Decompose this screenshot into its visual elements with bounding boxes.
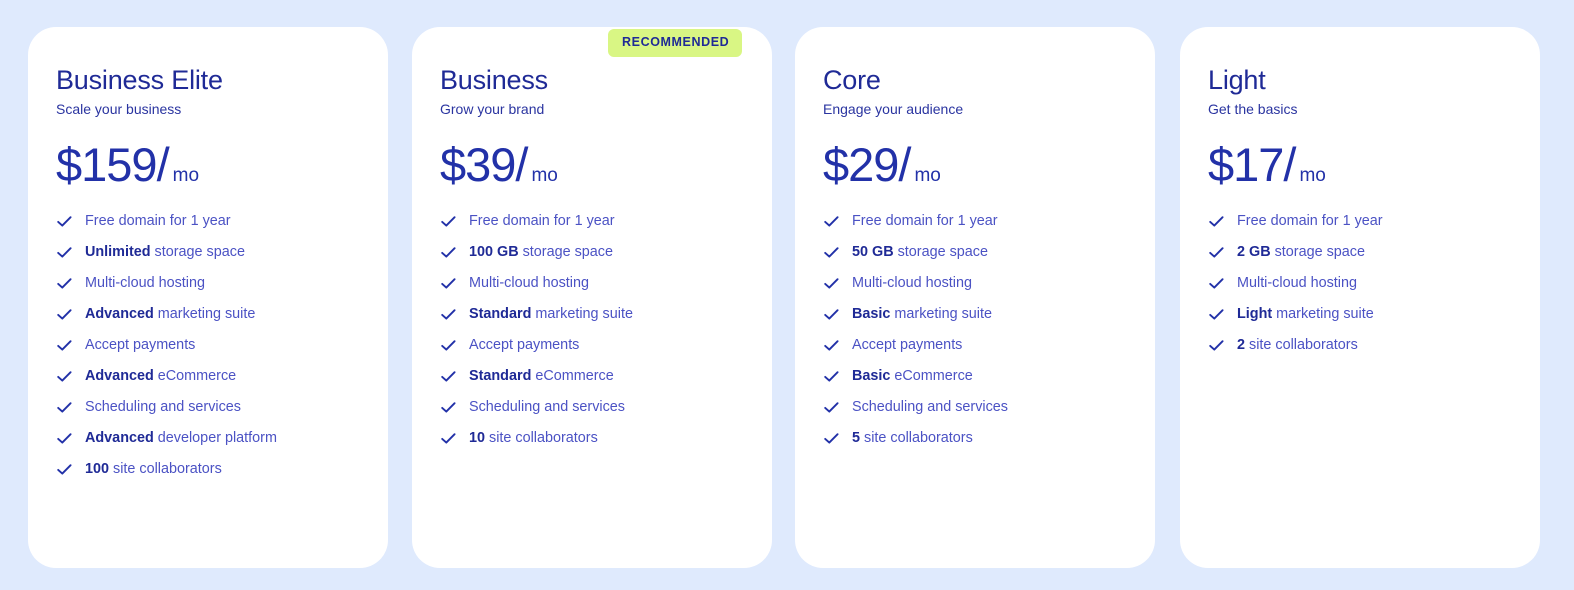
feature-item: Accept payments xyxy=(56,336,388,355)
check-icon xyxy=(56,461,73,478)
feature-item: Scheduling and services xyxy=(823,398,1155,417)
feature-list: Free domain for 1 year50 GB storage spac… xyxy=(823,212,1155,448)
plan-title: Light xyxy=(1208,65,1540,95)
feature-label: 2 site collaborators xyxy=(1237,336,1358,355)
feature-label: Advanced marketing suite xyxy=(85,305,255,324)
check-icon xyxy=(1208,306,1225,323)
feature-label: Light marketing suite xyxy=(1237,305,1374,324)
check-icon xyxy=(823,275,840,292)
feature-list: Free domain for 1 year100 GB storage spa… xyxy=(440,212,772,448)
feature-label: Basic marketing suite xyxy=(852,305,992,324)
plan-tagline: Get the basics xyxy=(1208,100,1540,118)
feature-label: Multi-cloud hosting xyxy=(85,274,205,293)
price-period: mo xyxy=(173,166,199,185)
plan-title: Core xyxy=(823,65,1155,95)
feature-item: Basic eCommerce xyxy=(823,367,1155,386)
feature-item: 100 GB storage space xyxy=(440,243,772,262)
check-icon xyxy=(823,337,840,354)
feature-label: Accept payments xyxy=(852,336,962,355)
check-icon xyxy=(823,306,840,323)
feature-list: Free domain for 1 yearUnlimited storage … xyxy=(56,212,388,479)
price-amount: $159 xyxy=(56,141,157,188)
feature-item: Scheduling and services xyxy=(56,398,388,417)
plan-card-business[interactable]: Business Grow your brand $39 / mo Free d… xyxy=(412,27,772,568)
plan-card-business-elite[interactable]: Business Elite Scale your business $159 … xyxy=(28,27,388,568)
price-period: mo xyxy=(914,166,940,185)
check-icon xyxy=(56,430,73,447)
plan-tagline: Engage your audience xyxy=(823,100,1155,118)
plan-title: Business Elite xyxy=(56,65,388,95)
price-amount: $39 xyxy=(440,141,515,188)
feature-item: Accept payments xyxy=(440,336,772,355)
feature-item: Basic marketing suite xyxy=(823,305,1155,324)
feature-label: Multi-cloud hosting xyxy=(852,274,972,293)
check-icon xyxy=(1208,337,1225,354)
recommended-badge: RECOMMENDED xyxy=(608,29,742,57)
feature-item: 2 GB storage space xyxy=(1208,243,1540,262)
check-icon xyxy=(440,244,457,261)
feature-label: 100 GB storage space xyxy=(469,243,613,262)
feature-label: Advanced developer platform xyxy=(85,429,277,448)
price-slash: / xyxy=(515,141,528,188)
check-icon xyxy=(56,368,73,385)
feature-item: Advanced eCommerce xyxy=(56,367,388,386)
feature-item: Free domain for 1 year xyxy=(1208,212,1540,231)
feature-label: Scheduling and services xyxy=(852,398,1008,417)
check-icon xyxy=(823,244,840,261)
check-icon xyxy=(56,399,73,416)
pricing-plans-grid: Business Elite Scale your business $159 … xyxy=(0,0,1574,590)
feature-item: 5 site collaborators xyxy=(823,429,1155,448)
price-slash: / xyxy=(157,141,170,188)
check-icon xyxy=(440,337,457,354)
check-icon xyxy=(440,275,457,292)
feature-label: 5 site collaborators xyxy=(852,429,973,448)
price-period: mo xyxy=(531,166,557,185)
feature-label: Free domain for 1 year xyxy=(852,212,998,231)
plan-price: $39 / mo xyxy=(440,141,772,188)
feature-item: 10 site collaborators xyxy=(440,429,772,448)
plan-title: Business xyxy=(440,65,772,95)
feature-item: Multi-cloud hosting xyxy=(56,274,388,293)
feature-label: 100 site collaborators xyxy=(85,460,222,479)
feature-list: Free domain for 1 year2 GB storage space… xyxy=(1208,212,1540,355)
plan-card-core[interactable]: Core Engage your audience $29 / mo Free … xyxy=(795,27,1155,568)
price-period: mo xyxy=(1299,166,1325,185)
check-icon xyxy=(823,368,840,385)
feature-label: Basic eCommerce xyxy=(852,367,973,386)
feature-item: Advanced developer platform xyxy=(56,429,388,448)
check-icon xyxy=(56,337,73,354)
feature-item: 50 GB storage space xyxy=(823,243,1155,262)
check-icon xyxy=(56,213,73,230)
plan-price: $159 / mo xyxy=(56,141,388,188)
feature-item: Unlimited storage space xyxy=(56,243,388,262)
price-slash: / xyxy=(1283,141,1296,188)
feature-item: Multi-cloud hosting xyxy=(440,274,772,293)
feature-item: Standard marketing suite xyxy=(440,305,772,324)
feature-label: Accept payments xyxy=(85,336,195,355)
check-icon xyxy=(56,244,73,261)
feature-label: 2 GB storage space xyxy=(1237,243,1365,262)
feature-item: Scheduling and services xyxy=(440,398,772,417)
feature-item: Free domain for 1 year xyxy=(440,212,772,231)
feature-label: Accept payments xyxy=(469,336,579,355)
feature-item: Light marketing suite xyxy=(1208,305,1540,324)
check-icon xyxy=(56,306,73,323)
feature-item: Standard eCommerce xyxy=(440,367,772,386)
feature-label: Free domain for 1 year xyxy=(85,212,231,231)
feature-label: Free domain for 1 year xyxy=(469,212,615,231)
feature-label: Advanced eCommerce xyxy=(85,367,236,386)
check-icon xyxy=(1208,244,1225,261)
feature-label: Multi-cloud hosting xyxy=(469,274,589,293)
feature-label: Multi-cloud hosting xyxy=(1237,274,1357,293)
price-slash: / xyxy=(898,141,911,188)
check-icon xyxy=(1208,275,1225,292)
price-amount: $17 xyxy=(1208,141,1283,188)
price-amount: $29 xyxy=(823,141,898,188)
feature-item: Multi-cloud hosting xyxy=(1208,274,1540,293)
feature-label: Free domain for 1 year xyxy=(1237,212,1383,231)
feature-label: 50 GB storage space xyxy=(852,243,988,262)
feature-item: Advanced marketing suite xyxy=(56,305,388,324)
feature-item: Multi-cloud hosting xyxy=(823,274,1155,293)
check-icon xyxy=(440,368,457,385)
feature-label: 10 site collaborators xyxy=(469,429,598,448)
check-icon xyxy=(440,306,457,323)
check-icon xyxy=(440,430,457,447)
check-icon xyxy=(1208,213,1225,230)
plan-price: $29 / mo xyxy=(823,141,1155,188)
feature-label: Unlimited storage space xyxy=(85,243,245,262)
plan-price: $17 / mo xyxy=(1208,141,1540,188)
feature-item: Free domain for 1 year xyxy=(56,212,388,231)
check-icon xyxy=(440,399,457,416)
feature-item: Free domain for 1 year xyxy=(823,212,1155,231)
check-icon xyxy=(823,213,840,230)
feature-label: Scheduling and services xyxy=(469,398,625,417)
feature-item: 2 site collaborators xyxy=(1208,336,1540,355)
feature-label: Standard marketing suite xyxy=(469,305,633,324)
feature-label: Standard eCommerce xyxy=(469,367,614,386)
plan-card-light[interactable]: Light Get the basics $17 / mo Free domai… xyxy=(1180,27,1540,568)
feature-item: Accept payments xyxy=(823,336,1155,355)
check-icon xyxy=(56,275,73,292)
check-icon xyxy=(823,399,840,416)
check-icon xyxy=(823,430,840,447)
plan-tagline: Scale your business xyxy=(56,100,388,118)
plan-tagline: Grow your brand xyxy=(440,100,772,118)
check-icon xyxy=(440,213,457,230)
feature-label: Scheduling and services xyxy=(85,398,241,417)
feature-item: 100 site collaborators xyxy=(56,460,388,479)
